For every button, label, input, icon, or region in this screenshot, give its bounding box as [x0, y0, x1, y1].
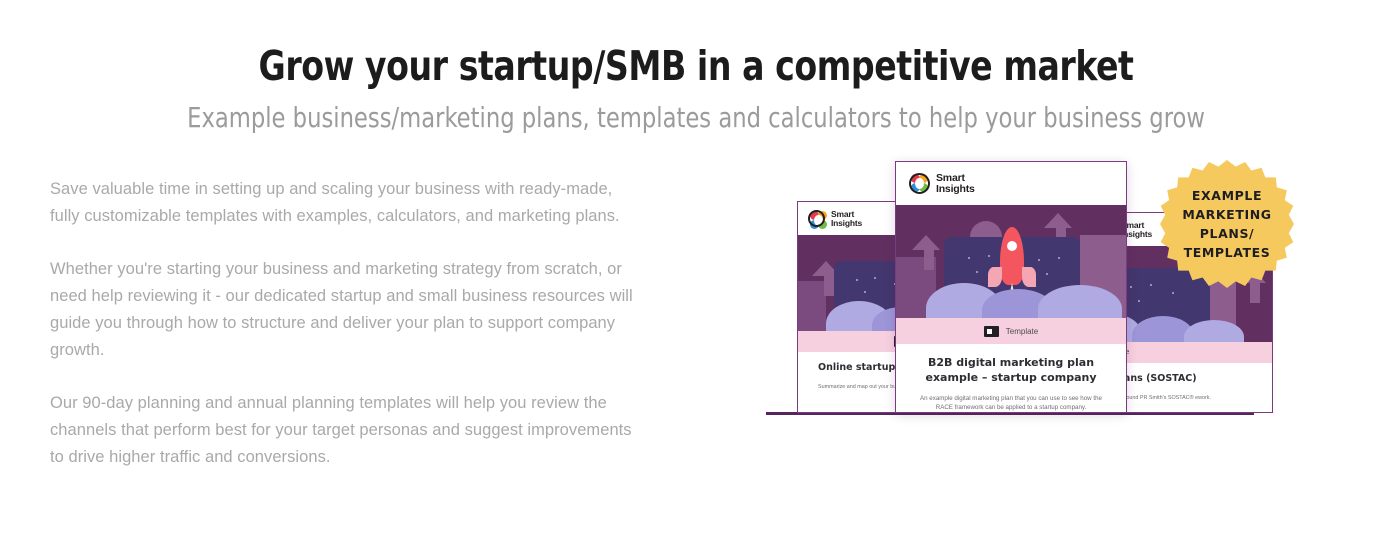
hero-header: Grow your startup/SMB in a competitive m… — [0, 0, 1392, 135]
template-tag-label: Template — [1006, 327, 1038, 336]
smart-insights-logo-icon — [909, 173, 930, 194]
template-showcase: Smart Insights Temp — [760, 150, 1320, 430]
template-tag-icon — [984, 326, 999, 337]
rocket-illustration — [896, 205, 1126, 318]
description-column: Save valuable time in setting up and sca… — [50, 176, 640, 471]
page-subtitle: Example business/marketing plans, templa… — [70, 90, 1323, 135]
template-card-b2b-digital-marketing-plan[interactable]: Smart Insights — [895, 161, 1127, 413]
page-title: Grow your startup/SMB in a competitive m… — [70, 0, 1323, 90]
badge-line-2: MARKETING — [1182, 205, 1271, 224]
badge-line-1: EXAMPLE — [1192, 186, 1262, 205]
logo-word-line2: Insights — [831, 218, 862, 228]
logo-wordmark: Smart Insights — [936, 173, 975, 194]
badge-text: EXAMPLE MARKETING PLANS/ TEMPLATES — [1160, 160, 1294, 288]
logo-word-line2: Insights — [936, 183, 975, 195]
logo-wordmark: Smart Insights — [831, 210, 862, 227]
body-paragraph: Whether you're starting your business an… — [50, 256, 640, 364]
badge-line-3: PLANS/ — [1200, 224, 1254, 243]
body-paragraph: Our 90-day planning and annual planning … — [50, 390, 640, 471]
template-badge-strip: Template — [896, 318, 1126, 344]
card-body: B2B digital marketing plan example – sta… — [896, 344, 1126, 413]
body-paragraph: Save valuable time in setting up and sca… — [50, 176, 640, 230]
card-logo-bar: Smart Insights — [896, 162, 1126, 205]
badge-line-4: TEMPLATES — [1184, 243, 1271, 262]
card-description: An example digital marketing plan that y… — [912, 394, 1110, 412]
smart-insights-logo-icon — [808, 210, 825, 227]
card-heading: B2B digital marketing plan example – sta… — [912, 355, 1110, 385]
example-marketing-plans-badge: EXAMPLE MARKETING PLANS/ TEMPLATES — [1160, 160, 1294, 288]
